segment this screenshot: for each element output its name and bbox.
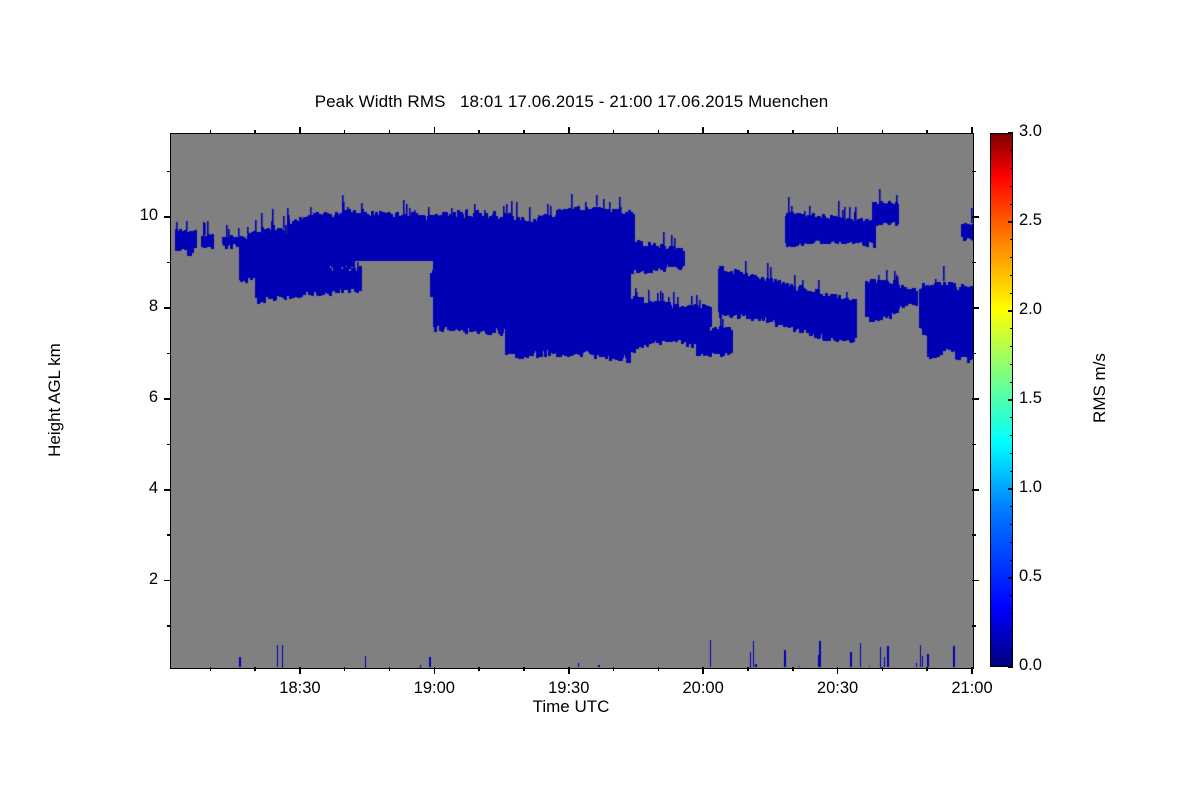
colorbar-tick-label: 0.0 [1019,656,1042,675]
x-tick-label: 21:00 [927,679,1017,698]
y-tick-label: 4 [118,479,158,498]
colorbar-minor-tick [1010,417,1013,418]
colorbar-minor-tick [1010,257,1013,258]
colorbar-tick [1008,221,1013,222]
colorbar-minor-tick [1010,649,1013,650]
colorbar-minor-tick [1010,239,1013,240]
colorbar-minor-tick [1010,595,1013,596]
colorbar-tick [1008,310,1013,311]
y-tick-label: 2 [118,570,158,589]
x-tick-label: 20:00 [658,679,748,698]
colorbar-tick [1008,577,1013,578]
colorbar-minor-tick [1010,168,1013,169]
colorbar-minor-tick [1010,293,1013,294]
x-tick-label: 18:30 [255,679,345,698]
colorbar-tick-label: 3.0 [1019,122,1042,141]
colorbar-label: RMS m/s [1090,288,1110,488]
colorbar-tick-label: 2.5 [1019,211,1042,230]
plot-area[interactable] [170,133,974,669]
figure-canvas: Peak Width RMS 18:01 17.06.2015 - 21:00 … [0,0,1200,800]
colorbar-tick-label: 2.0 [1019,300,1042,319]
colorbar-minor-tick [1010,275,1013,276]
colorbar-minor-tick [1010,631,1013,632]
colorbar-minor-tick [1010,186,1013,187]
x-tick-label: 19:30 [524,679,614,698]
y-axis-label: Height AGL km [45,300,65,500]
x-axis-label: Time UTC [170,697,972,717]
colorbar-tick [1008,399,1013,400]
colorbar-minor-tick [1010,382,1013,383]
colorbar-minor-tick [1010,613,1013,614]
colorbar-tick [1008,488,1013,489]
colorbar-minor-tick [1010,204,1013,205]
colorbar-tick [1008,666,1013,667]
colorbar-minor-tick [1010,560,1013,561]
colorbar-tick-label: 0.5 [1019,567,1042,586]
x-tick-label: 20:30 [793,679,883,698]
colorbar-minor-tick [1010,435,1013,436]
y-tick-label: 10 [118,206,158,225]
colorbar-minor-tick [1010,471,1013,472]
colorbar-minor-tick [1010,453,1013,454]
heatmap-data-layer [171,134,973,668]
colorbar-minor-tick [1010,506,1013,507]
colorbar-minor-tick [1010,346,1013,347]
colorbar-tick-label: 1.5 [1019,389,1042,408]
colorbar-minor-tick [1010,524,1013,525]
colorbar-minor-tick [1010,542,1013,543]
colorbar-minor-tick [1010,150,1013,151]
y-tick-label: 8 [118,297,158,316]
y-tick-label: 6 [118,388,158,407]
page-title: Peak Width RMS 18:01 17.06.2015 - 21:00 … [0,92,1143,112]
colorbar-tick-label: 1.0 [1019,478,1042,497]
colorbar-tick [1008,132,1013,133]
colorbar-minor-tick [1010,328,1013,329]
x-tick-label: 19:00 [389,679,479,698]
colorbar-minor-tick [1010,364,1013,365]
